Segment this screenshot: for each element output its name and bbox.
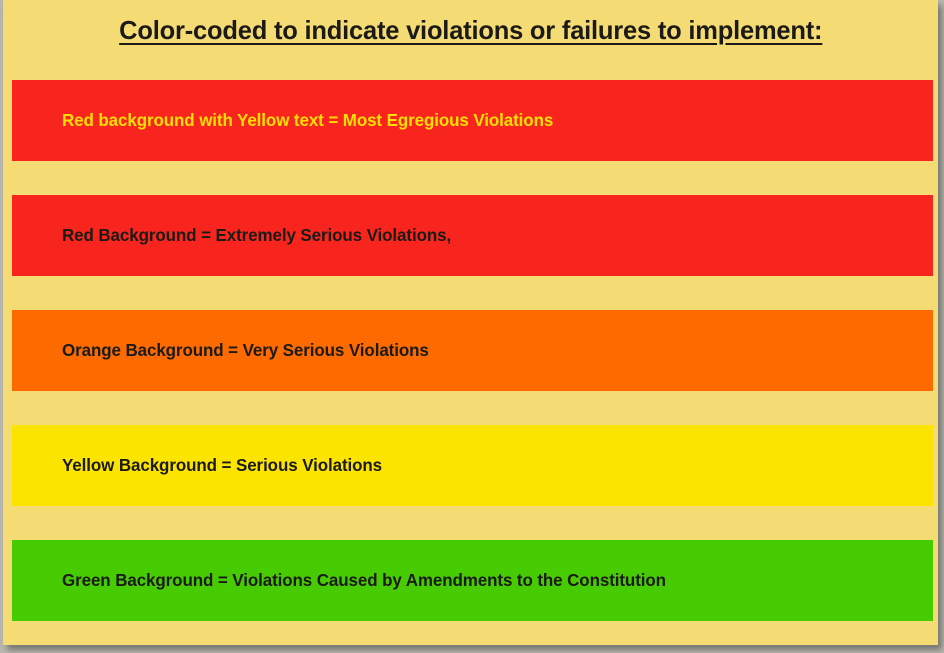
legend-band-label: Green Background = Violations Caused by … (62, 570, 666, 591)
legend-band-label: Red background with Yellow text = Most E… (62, 110, 553, 131)
legend-band-red: Red Background = Extremely Serious Viola… (12, 195, 933, 276)
legend-band-green: Green Background = Violations Caused by … (12, 540, 933, 621)
legend-band-label: Red Background = Extremely Serious Viola… (62, 225, 451, 246)
legend-band-yellow: Yellow Background = Serious Violations (12, 425, 933, 506)
page-title: Color-coded to indicate violations or fa… (119, 15, 822, 46)
legend-band-label: Orange Background = Very Serious Violati… (62, 340, 429, 361)
legend-band-label: Yellow Background = Serious Violations (62, 455, 382, 476)
legend-band-red-yellow-text: Red background with Yellow text = Most E… (12, 80, 933, 161)
title-block: Color-coded to indicate violations or fa… (3, 0, 938, 60)
legend-list: Red background with Yellow text = Most E… (12, 80, 933, 621)
legend-band-orange: Orange Background = Very Serious Violati… (12, 310, 933, 391)
slide-surface: Color-coded to indicate violations or fa… (3, 0, 938, 645)
